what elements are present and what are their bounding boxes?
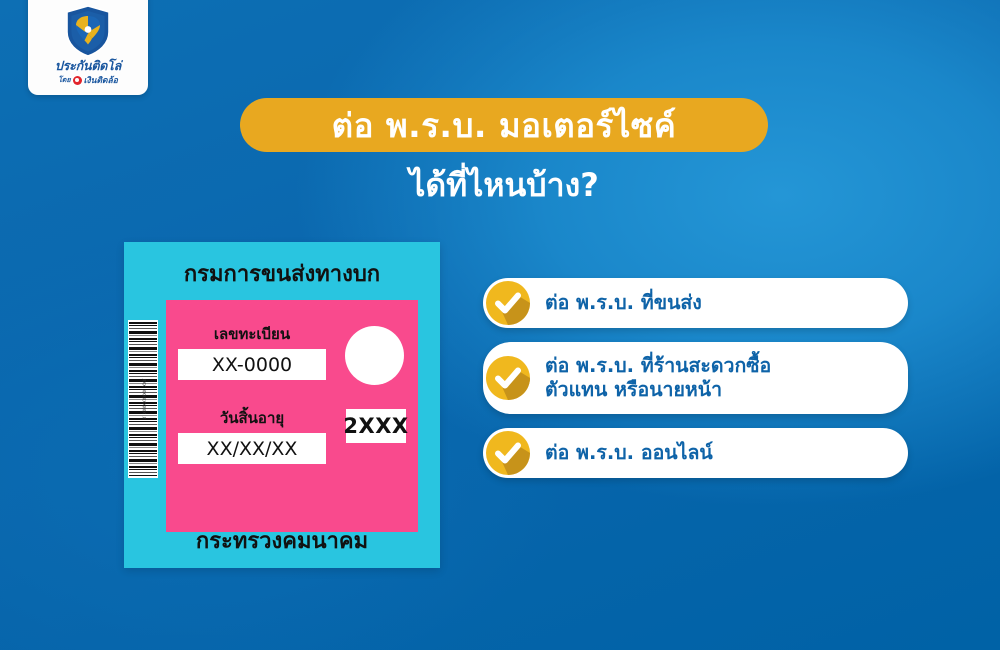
registration-value: XX-0000: [178, 349, 326, 380]
headline-subtitle: ได้ที่ไหนบ้าง?: [240, 160, 768, 211]
list-item[interactable]: ต่อ พ.ร.บ. ที่ขนส่ง: [483, 278, 908, 328]
list-item-label: ต่อ พ.ร.บ. ที่ขนส่ง: [545, 291, 702, 315]
list-item-label: ต่อ พ.ร.บ. ออนไลน์: [545, 441, 713, 465]
list-item[interactable]: ต่อ พ.ร.บ. ที่ร้านสะดวกซื้อ ตัวแทน หรือน…: [483, 342, 908, 414]
expiry-label: วันสิ้นอายุ: [178, 406, 326, 430]
channel-list: ต่อ พ.ร.บ. ที่ขนส่ง ต่อ พ.ร.บ. ที่ร้านสะ…: [483, 278, 908, 492]
list-item[interactable]: ต่อ พ.ร.บ. ออนไลน์: [483, 428, 908, 478]
sticker-department-title: กรมการขนส่งทางบก: [124, 256, 440, 291]
barcode-number: XXX XXXXXXXXX X: [141, 379, 146, 420]
check-circle-icon: [484, 429, 532, 477]
headline-title: ต่อ พ.ร.บ. มอเตอร์ไซค์: [332, 109, 677, 142]
check-circle-icon: [484, 279, 532, 327]
brand-parent-name: เงินติดล้อ: [84, 73, 118, 87]
brand-by-label: โดย: [58, 75, 70, 86]
check-circle-icon: [484, 354, 532, 402]
road-tax-sticker: กรมการขนส่งทางบก XXX XXXXXXXXX X เลขทะเบ…: [124, 242, 440, 568]
ngerntidlor-mark-icon: [73, 76, 82, 85]
sticker-ministry-title: กระทรวงคมนาคม: [124, 523, 440, 558]
brand-parent-row: โดย เงินติดล้อ: [58, 73, 118, 87]
expiry-year-value: 2XXX: [346, 409, 406, 443]
seal-circle: [345, 326, 404, 385]
registration-label: เลขทะเบียน: [178, 322, 326, 346]
brand-logo-card[interactable]: ประกันติดโล่ โดย เงินติดล้อ: [28, 0, 148, 95]
expiry-value: XX/XX/XX: [178, 433, 326, 464]
barcode-icon: XXX XXXXXXXXX X: [128, 320, 158, 478]
sticker-inner-panel: เลขทะเบียน XX-0000 วันสิ้นอายุ XX/XX/XX …: [166, 300, 418, 532]
list-item-label: ต่อ พ.ร.บ. ที่ร้านสะดวกซื้อ ตัวแทน หรือน…: [545, 354, 771, 402]
brand-name: ประกันติดโล่: [55, 59, 121, 72]
registration-field: เลขทะเบียน XX-0000: [178, 322, 326, 380]
shield-logo-icon: [65, 5, 111, 57]
expiry-field: วันสิ้นอายุ XX/XX/XX: [178, 406, 326, 464]
headline-pill: ต่อ พ.ร.บ. มอเตอร์ไซค์: [240, 98, 768, 152]
